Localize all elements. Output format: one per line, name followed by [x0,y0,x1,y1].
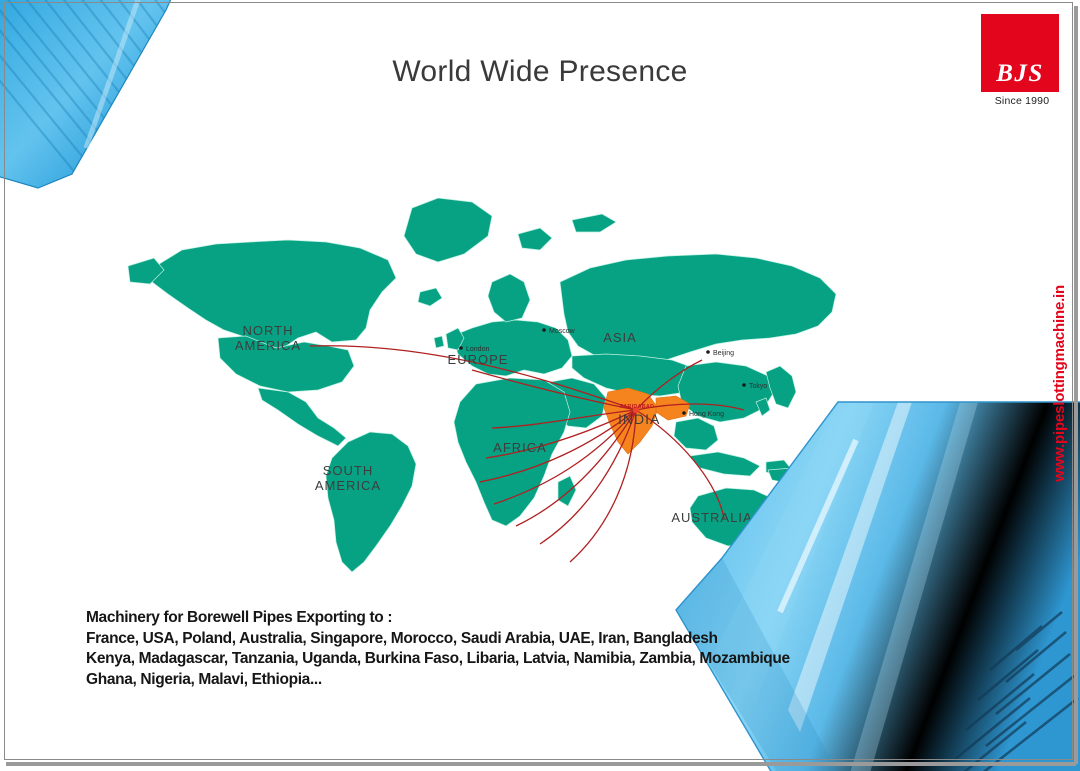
city-label-london: London [466,346,489,353]
logo-tagline: Since 1990 [981,95,1063,107]
city-dot-tokyo [742,383,746,387]
city-label-moscow: Moscow [549,328,576,335]
page-title: World Wide Presence [0,55,1080,89]
continent-label-north-america: NORTH [243,323,294,338]
caption-line-1: Machinery for Borewell Pipes Exporting t… [86,608,790,629]
continent-label-africa: AFRICA [493,440,547,455]
world-map: .land { fill:#06a283; stroke:#bff0e2; st… [120,170,880,590]
city-dot-beijing [706,350,710,354]
website-url: www.pipeslottingmachine.in [1051,285,1068,482]
city-dot-moscow [542,328,546,332]
page-frame-shadow-bottom [6,762,1076,766]
city-dot-sidney [751,531,755,535]
continent-label-australia: AUSTRALIA [671,510,752,525]
country-label-india: INDIA [618,411,660,427]
continent-label-south-america: SOUTH [323,463,374,478]
caption-line-3: Kenya, Madagascar, Tanzania, Uganda, Bur… [86,649,790,670]
continent-label-south-america-2: AMERICA [315,478,381,493]
hub-labels: FARIDABAD INDIA [618,404,660,427]
city-label-hong-kong: Hong Kong [689,411,724,418]
hub-city-label: FARIDABAD [620,404,654,410]
continent-label-north-america-2: AMERICA [235,338,301,353]
city-dot-hong-kong [682,411,686,415]
continent-label-asia: ASIA [603,330,637,345]
city-label-tokyo: Tokyo [749,383,767,390]
pipe-slots [942,612,1078,771]
presentation-slide: .land { fill:#06a283; stroke:#bff0e2; st… [0,0,1080,771]
logo-mark: BJS [981,14,1059,92]
city-dot-london [459,346,463,350]
export-countries-caption: Machinery for Borewell Pipes Exporting t… [86,608,790,690]
caption-line-4: Ghana, Nigeria, Malavi, Ethiopia... [86,670,790,691]
logo-text: BJS [981,60,1059,88]
continent-label-europe: EUROPE [448,352,509,367]
city-label-beijing: Beijing [713,350,734,357]
caption-line-2: France, USA, Poland, Australia, Singapor… [86,629,790,650]
city-label-sidney: Sidney [758,531,780,538]
brand-logo: BJS Since 1990 [981,14,1063,107]
page-frame-shadow-right [1074,6,1078,764]
